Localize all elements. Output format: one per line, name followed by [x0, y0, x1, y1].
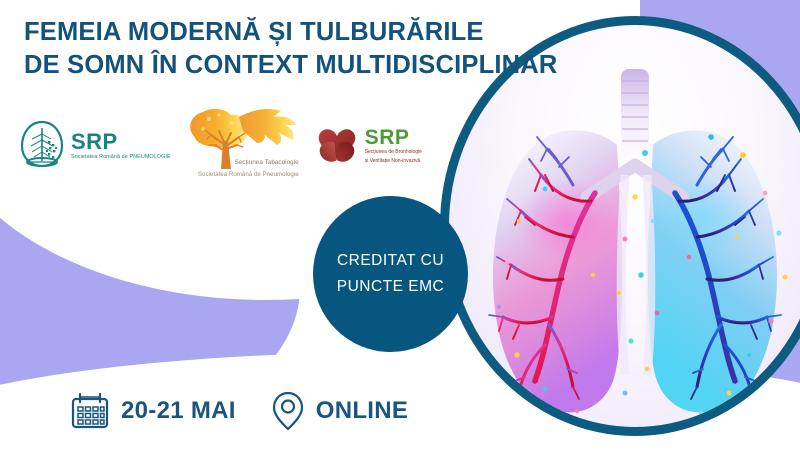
emc-credit-badge: CREDITAT CU PUNCTE EMC [313, 196, 468, 352]
calendar-icon [70, 391, 110, 431]
logo-srp-bronhologie-text: SRP Secțiunea de Bronhologie și Ventilaț… [365, 128, 422, 164]
title-line-2: DE SOMN ÎN CONTEXT MULTIDISCIPLINAR [24, 49, 584, 82]
logo-srp-bronhologie: SRP Secțiunea de Bronhologie și Ventilaț… [313, 123, 422, 169]
lungs-image [449, 25, 800, 427]
right-lung-body [648, 130, 777, 412]
partner-logos: SRP Societatea Română de PNEUMOLOGIE [18, 104, 422, 188]
lungs-svg [449, 25, 800, 427]
location-pin-icon [271, 390, 305, 432]
banner-title: FEMEIA MODERNĂ ȘI TULBURĂRILE DE SOMN ÎN… [24, 16, 584, 82]
heart-lobes-icon [313, 123, 361, 169]
right-airway [647, 175, 651, 375]
logo-srp-bronhologie-acronym: SRP [365, 128, 422, 147]
logo-srp-subtitle: Societatea Română de PNEUMOLOGIE [71, 154, 171, 160]
lung-tree-icon [18, 119, 66, 173]
logo-srp-acronym: SRP [71, 132, 171, 152]
logo-tabacologie-line2: Societatea Română de Pneumologie [198, 171, 299, 178]
logo-srp-bronhologie-subtitle-1: Secțiunea de Bronhologie [365, 149, 422, 156]
conference-banner: FEMEIA MODERNĂ ȘI TULBURĂRILE DE SOMN ÎN… [0, 0, 800, 450]
event-details: 20-21 MAI ONLINE [70, 390, 408, 432]
logo-srp-bronhologie-subtitle-2: și Ventilație Non-invazivă [365, 158, 422, 165]
left-lung-body [493, 130, 622, 412]
logo-sectiunea-tabacologie: Secțiunea Tabacologie Societatea Română … [181, 105, 303, 187]
event-date: 20-21 MAI [121, 397, 236, 425]
event-location: ONLINE [316, 397, 408, 425]
badge-line-1: CREDITAT CU [337, 248, 444, 274]
left-airway [621, 175, 625, 375]
title-line-1: FEMEIA MODERNĂ ȘI TULBURĂRILE [24, 18, 484, 46]
logo-srp-pneumologie-text: SRP Societatea Română de PNEUMOLOGIE [71, 132, 171, 160]
logo-tabacologie-line1: Secțiunea Tabacologie [234, 159, 298, 166]
badge-line-2: PUNCTE EMC [337, 274, 444, 300]
logo-srp-pneumologie: SRP Societatea Română de PNEUMOLOGIE [18, 119, 171, 173]
